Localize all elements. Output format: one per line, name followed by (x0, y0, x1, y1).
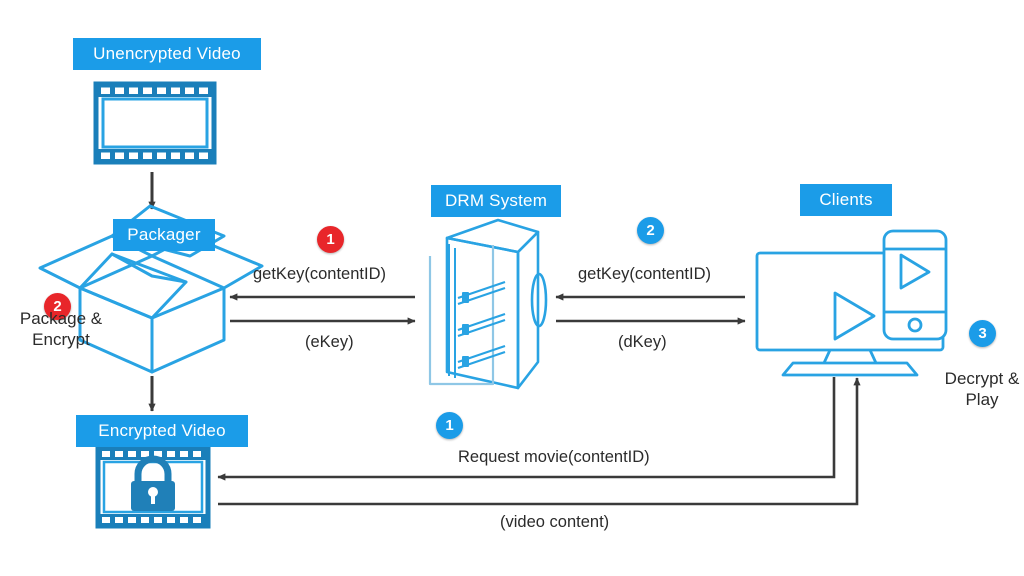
annotation-decrypt-play: Decrypt & Play (920, 369, 1024, 410)
monitor-phone-icon (757, 231, 946, 375)
node-label-packager: Packager (113, 219, 215, 251)
node-label-encrypted-video: Encrypted Video (76, 415, 248, 447)
film-strip-icon (96, 84, 214, 162)
flow-label-video-content: (video content) (500, 512, 609, 532)
badge-step-1-request-movie: 1 (436, 412, 463, 439)
flow-label-ekey: (eKey) (305, 332, 354, 352)
arrow-video-content (218, 378, 857, 504)
server-rack-icon (430, 220, 546, 388)
badge-step-3-decrypt-play: 3 (969, 320, 996, 347)
annotation-decrypt-play-line1: Decrypt & (920, 369, 1024, 390)
node-label-drm-system: DRM System (431, 185, 561, 217)
annotation-package-encrypt-line2: Encrypt (8, 330, 114, 351)
annotation-package-encrypt-line1: Package & (8, 309, 114, 330)
annotation-package-encrypt: Package & Encrypt (8, 309, 114, 350)
flow-label-request-movie: Request movie(contentID) (458, 447, 650, 467)
flow-label-dkey: (dKey) (618, 332, 667, 352)
badge-step-2-client-getkey: 2 (637, 217, 664, 244)
diagram-artwork-layer (0, 0, 1024, 576)
film-strip-lock-icon (98, 448, 208, 526)
annotation-decrypt-play-line2: Play (920, 390, 1024, 411)
drm-workflow-diagram: Unencrypted Video Packager Encrypted Vid… (0, 0, 1024, 576)
node-label-unencrypted-video: Unencrypted Video (73, 38, 261, 70)
flow-label-getkey-packager: getKey(contentID) (253, 264, 386, 284)
node-label-clients: Clients (800, 184, 892, 216)
badge-step-1-packager: 1 (317, 226, 344, 253)
flow-label-getkey-client: getKey(contentID) (578, 264, 711, 284)
